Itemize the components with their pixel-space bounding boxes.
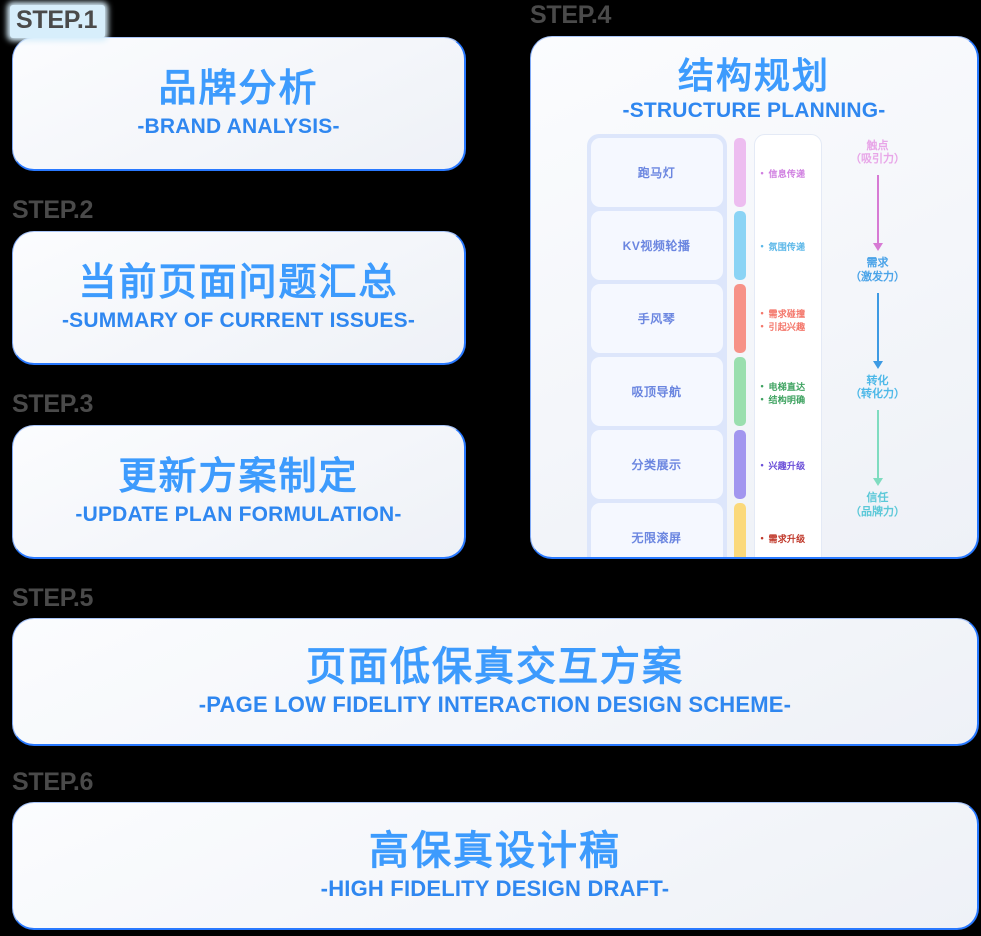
note-line: 信息传递 xyxy=(761,170,821,180)
step-card-5[interactable]: 页面低保真交互方案 -PAGE LOW FIDELITY INTERACTION… xyxy=(12,618,979,746)
note-line: 需求碰撞 xyxy=(761,310,821,320)
component-card[interactable]: 吸顶导航 xyxy=(591,357,723,426)
funnel-arrow-icon xyxy=(873,293,883,369)
accent-bar-column xyxy=(734,134,746,557)
step-card-3-title-cn: 更新方案制定 xyxy=(118,456,358,500)
step-card-6[interactable]: 高保真设计稿 -HIGH FIDELITY DESIGN DRAFT- xyxy=(12,802,979,930)
funnel-stage-title: 信任 xyxy=(850,492,905,506)
funnel-arrow-icon xyxy=(873,175,883,251)
note-group: 需求升级 xyxy=(755,504,821,557)
funnel-stage: 需求（激发力） xyxy=(850,257,905,285)
accent-bar xyxy=(734,211,746,280)
component-card-label: 无限滚屏 xyxy=(631,529,681,546)
funnel-stage-title: 需求 xyxy=(850,257,905,271)
arrow-head xyxy=(873,361,883,369)
step-card-4-title-cn: 结构规划 xyxy=(678,55,830,96)
component-card-column: 跑马灯KV视频轮播手风琴吸顶导航分类展示无限滚屏 xyxy=(587,134,727,557)
component-card[interactable]: 跑马灯 xyxy=(591,138,723,207)
step-label-3: STEP.3 xyxy=(12,392,93,417)
note-line: 氛围传递 xyxy=(761,243,821,253)
note-line: 需求升级 xyxy=(761,535,821,545)
arrow-head xyxy=(873,243,883,251)
step-card-1[interactable]: 品牌分析 -BRAND ANALYSIS- xyxy=(12,37,466,171)
funnel-stage: 转化（转化力） xyxy=(850,375,905,403)
funnel-stage: 信任（品牌力） xyxy=(850,492,905,520)
note-group: 氛围传递 xyxy=(755,212,821,285)
note-line: 引起兴趣 xyxy=(761,323,821,333)
step-label-5: STEP.5 xyxy=(12,586,93,611)
step-card-1-title-en: -BRAND ANALYSIS- xyxy=(137,114,339,139)
accent-bar xyxy=(734,284,746,353)
step-card-4-title-en: -STRUCTURE PLANNING- xyxy=(623,98,886,123)
step-card-3[interactable]: 更新方案制定 -UPDATE PLAN FORMULATION- xyxy=(12,425,466,559)
funnel-arrow-icon xyxy=(873,410,883,486)
step-card-6-title-cn: 高保真设计稿 xyxy=(369,828,621,874)
funnel-stage-subtitle: （品牌力） xyxy=(850,506,905,520)
step-card-4[interactable]: 结构规划 -STRUCTURE PLANNING- 跑马灯KV视频轮播手风琴吸顶… xyxy=(530,36,979,559)
funnel-stage: 触点（吸引力） xyxy=(850,140,905,168)
step-card-2-title-en: -SUMMARY OF CURRENT ISSUES- xyxy=(62,308,415,333)
note-line: 兴趣升级 xyxy=(761,462,821,472)
structure-diagram: 跑马灯KV视频轮播手风琴吸顶导航分类展示无限滚屏 信息传递氛围传递需求碰撞引起兴… xyxy=(531,124,977,557)
funnel-stage-title: 触点 xyxy=(850,140,905,154)
note-line: 结构明确 xyxy=(761,396,821,406)
funnel-stage-subtitle: （激发力） xyxy=(850,271,905,285)
note-group: 信息传递 xyxy=(755,139,821,212)
step-label-4: STEP.4 xyxy=(530,3,611,28)
accent-bar xyxy=(734,138,746,207)
step-label-6: STEP.6 xyxy=(12,770,93,795)
component-card[interactable]: 无限滚屏 xyxy=(591,503,723,557)
note-group: 需求碰撞引起兴趣 xyxy=(755,285,821,358)
arrow-shaft xyxy=(877,410,879,478)
component-card-label: KV视频轮播 xyxy=(623,237,691,254)
step-card-3-title-en: -UPDATE PLAN FORMULATION- xyxy=(75,502,401,527)
component-card-label: 跑马灯 xyxy=(638,164,676,181)
note-group: 兴趣升级 xyxy=(755,431,821,504)
notes-column: 信息传递氛围传递需求碰撞引起兴趣电梯直达结构明确兴趣升级需求升级 xyxy=(754,134,822,557)
step-card-1-title-cn: 品牌分析 xyxy=(158,68,318,112)
funnel-stage-title: 转化 xyxy=(850,375,905,389)
accent-bar xyxy=(734,430,746,499)
component-card[interactable]: 手风琴 xyxy=(591,284,723,353)
step-card-2-title-cn: 当前页面问题汇总 xyxy=(78,262,398,306)
funnel-column: 触点（吸引力）需求（激发力）转化（转化力）信任（品牌力） xyxy=(834,134,922,520)
component-card[interactable]: KV视频轮播 xyxy=(591,211,723,280)
component-card-label: 手风琴 xyxy=(638,310,676,327)
step-card-6-title-en: -HIGH FIDELITY DESIGN DRAFT- xyxy=(321,876,670,902)
accent-bar xyxy=(734,357,746,426)
note-line: 电梯直达 xyxy=(761,383,821,393)
arrow-shaft xyxy=(877,293,879,361)
component-card-label: 吸顶导航 xyxy=(631,383,681,400)
component-card-label: 分类展示 xyxy=(631,456,681,473)
funnel-stage-subtitle: （转化力） xyxy=(850,388,905,402)
step-label-2: STEP.2 xyxy=(12,198,93,223)
slide-canvas: STEP.1 品牌分析 -BRAND ANALYSIS- STEP.2 当前页面… xyxy=(0,0,981,936)
arrow-head xyxy=(873,478,883,486)
arrow-shaft xyxy=(877,175,879,243)
funnel-stage-subtitle: （吸引力） xyxy=(850,153,905,167)
component-card[interactable]: 分类展示 xyxy=(591,430,723,499)
step-card-5-title-en: -PAGE LOW FIDELITY INTERACTION DESIGN SC… xyxy=(199,692,791,718)
accent-bar xyxy=(734,503,746,557)
note-group: 电梯直达结构明确 xyxy=(755,358,821,431)
step-label-1: STEP.1 xyxy=(10,5,105,38)
step-card-2[interactable]: 当前页面问题汇总 -SUMMARY OF CURRENT ISSUES- xyxy=(12,231,466,365)
step-card-5-title-cn: 页面低保真交互方案 xyxy=(306,644,684,690)
